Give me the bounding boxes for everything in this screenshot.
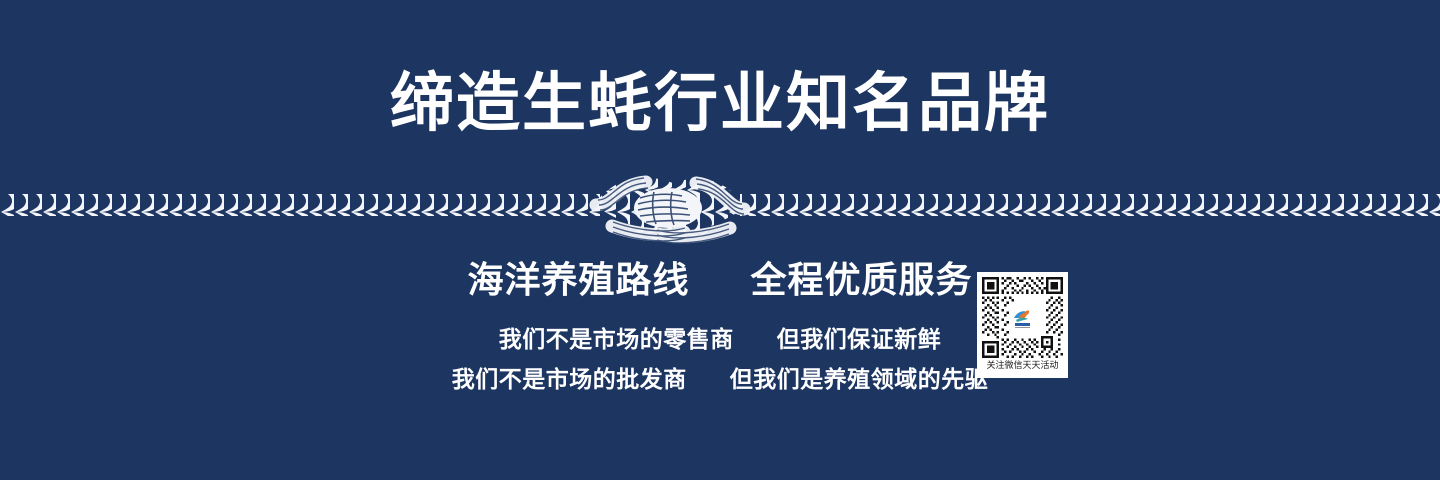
brand-logo-art [1010, 305, 1035, 330]
tagline-right: 但我们保证新鲜 [777, 327, 942, 353]
subheadline-right: 全程优质服务 [751, 260, 973, 301]
qr-caption: 关注微信天天活动 [986, 358, 1058, 374]
rope-divider-icon [0, 168, 1440, 248]
tagline-left: 我们不是市场的零售商 [499, 327, 734, 353]
qr-card[interactable]: 关注微信天天活动 [977, 272, 1068, 378]
qr-code-icon[interactable] [982, 277, 1063, 358]
rope-knot-divider [0, 168, 1440, 248]
subheadline: 海洋养殖路线 全程优质服务 [0, 263, 1440, 299]
tagline-left: 我们不是市场的批发商 [452, 367, 687, 393]
promo-banner: 缔造生蚝行业知名品牌 [0, 0, 1440, 480]
tagline-row: 我们不是市场的零售商 但我们保证新鲜 [0, 320, 1440, 360]
page-title: 缔造生蚝行业知名品牌 [0, 72, 1440, 136]
brand-logo-icon [1009, 304, 1036, 331]
tagline-row: 我们不是市场的批发商 但我们是养殖领域的先驱 [0, 360, 1440, 400]
tagline-group: 我们不是市场的零售商 但我们保证新鲜 我们不是市场的批发商 但我们是养殖领域的先… [0, 320, 1440, 400]
tagline-right: 但我们是养殖领域的先驱 [730, 367, 989, 393]
subheadline-left: 海洋养殖路线 [467, 260, 689, 301]
